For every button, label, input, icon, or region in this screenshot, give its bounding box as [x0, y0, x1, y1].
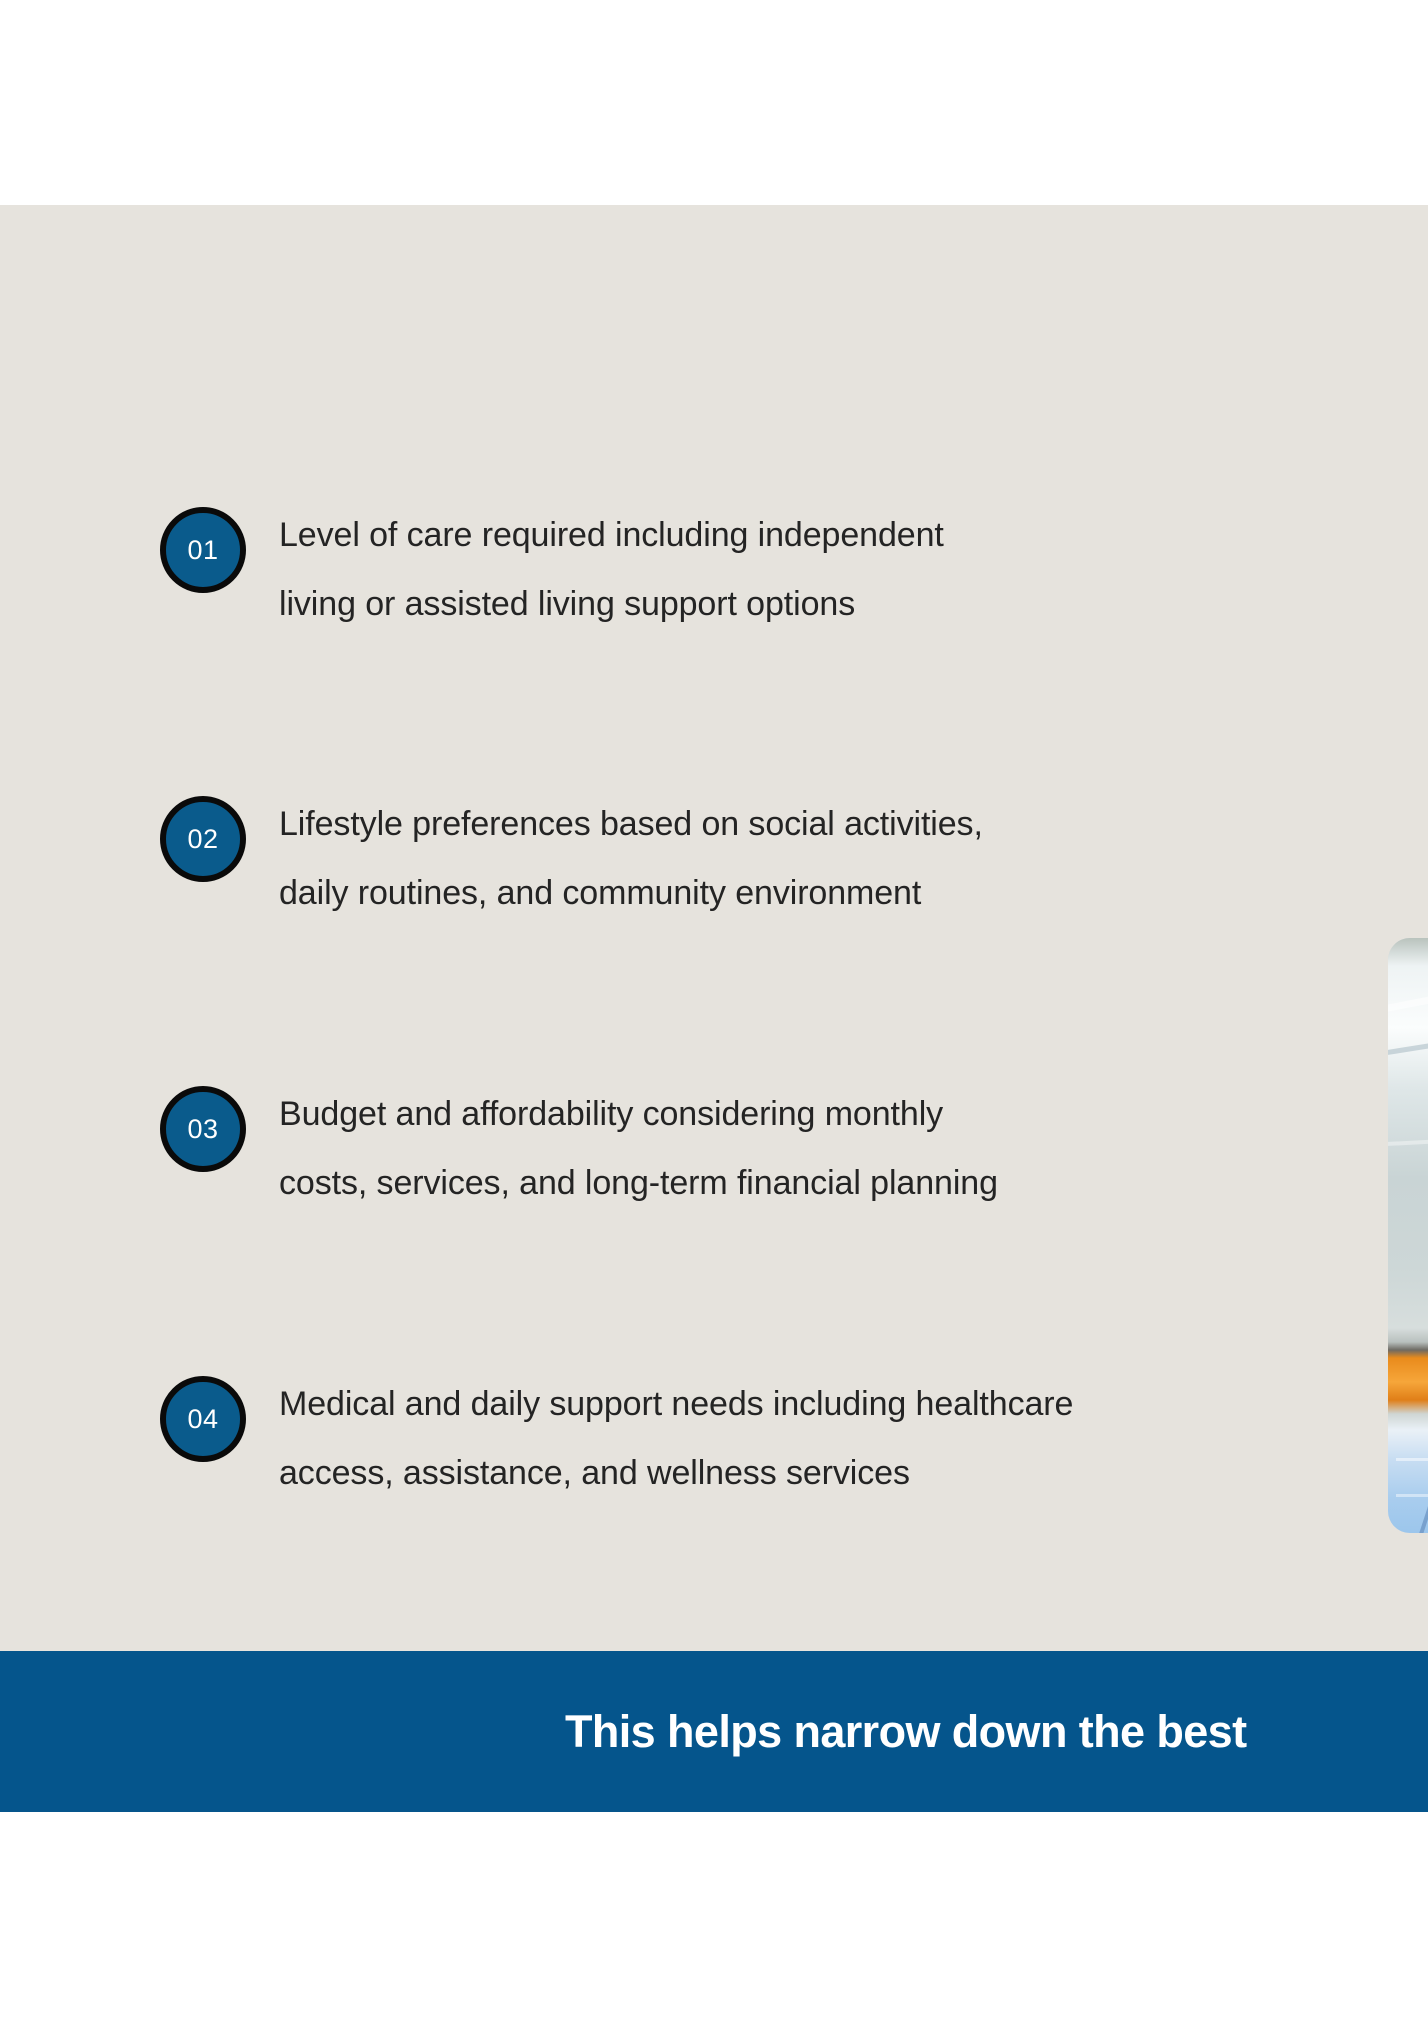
number-badge: 03 [160, 1086, 246, 1172]
badge-number-label: 03 [187, 1116, 218, 1143]
list-item: 03 Budget and affordability considering … [160, 1080, 998, 1218]
number-badge: 04 [160, 1376, 246, 1462]
bottom-banner: This helps narrow down the best [0, 1651, 1428, 1812]
list-item-text: Medical and daily support needs includin… [279, 1370, 1073, 1508]
badge-number-label: 04 [187, 1406, 218, 1433]
badge-number-label: 02 [187, 826, 218, 853]
banner-headline: This helps narrow down the best [0, 1706, 1246, 1758]
numbered-list: 01 Level of care required including inde… [0, 205, 1428, 1651]
list-item: 02 Lifestyle preferences based on social… [160, 790, 983, 928]
photo-image [1388, 938, 1428, 1533]
list-item-text: Lifestyle preferences based on social ac… [279, 790, 983, 928]
list-item: 04 Medical and daily support needs inclu… [160, 1370, 1073, 1508]
photo-detail [1396, 1494, 1428, 1497]
number-badge: 02 [160, 796, 246, 882]
list-item: 01 Level of care required including inde… [160, 501, 944, 639]
photo-detail [1396, 1458, 1428, 1461]
content-panel: 01 Level of care required including inde… [0, 205, 1428, 1651]
list-item-text: Level of care required including indepen… [279, 501, 944, 639]
badge-number-label: 01 [187, 537, 218, 564]
page-root: 01 Level of care required including inde… [0, 0, 1428, 2018]
list-item-text: Budget and affordability considering mon… [279, 1080, 998, 1218]
number-badge: 01 [160, 507, 246, 593]
interior-photo [1388, 938, 1428, 1533]
